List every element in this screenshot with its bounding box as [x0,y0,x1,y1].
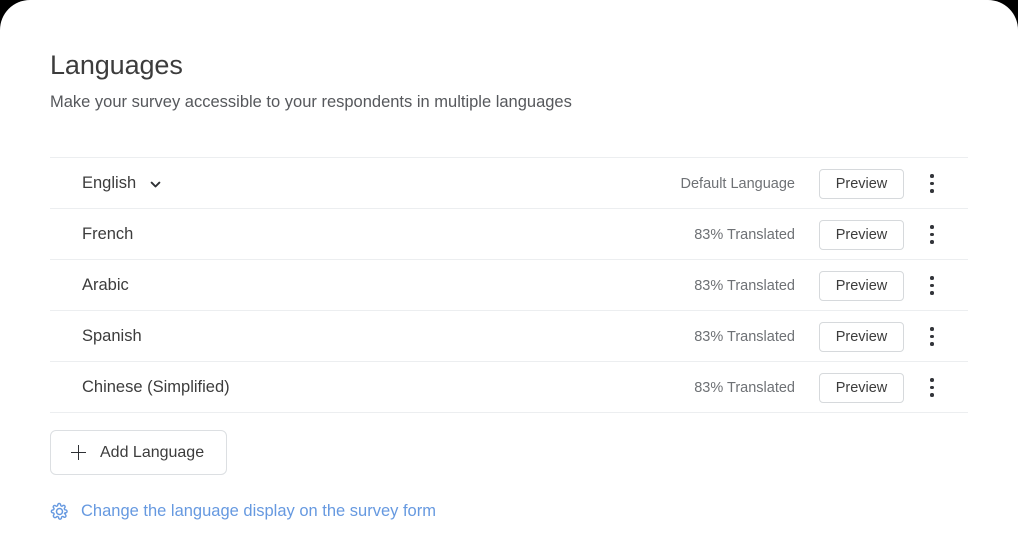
table-row[interactable]: Arabic 83% Translated Preview [50,260,968,311]
status-badge: 83% Translated [694,227,795,243]
language-entry-french: French [82,224,133,244]
language-list: English Default Language Preview French … [50,157,968,413]
table-row[interactable]: English Default Language Preview [50,158,968,209]
change-language-display-link[interactable]: Change the language display on the surve… [50,500,436,522]
page-title: Languages [50,48,970,82]
kebab-menu-icon[interactable] [918,322,946,352]
chevron-down-icon[interactable] [149,178,162,191]
footer-link-label: Change the language display on the surve… [81,500,436,522]
table-row[interactable]: Chinese (Simplified) 83% Translated Prev… [50,362,968,413]
add-language-label: Add Language [100,443,204,463]
kebab-menu-icon[interactable] [918,169,946,199]
row-actions: 83% Translated Preview [694,209,968,260]
row-actions: 83% Translated Preview [694,362,968,413]
add-language-button[interactable]: Add Language [50,430,227,475]
preview-button[interactable]: Preview [819,322,904,352]
table-row[interactable]: Spanish 83% Translated Preview [50,311,968,362]
language-entry-arabic: Arabic [82,275,129,295]
preview-button[interactable]: Preview [819,271,904,301]
language-name: English [82,173,136,193]
kebab-menu-icon[interactable] [918,373,946,403]
language-selector-english[interactable]: English [82,173,162,193]
kebab-menu-icon[interactable] [918,271,946,301]
language-name: Arabic [82,275,129,295]
language-name: Chinese (Simplified) [82,377,230,397]
page-header: Languages Make your survey accessible to… [50,48,970,113]
preview-button[interactable]: Preview [819,169,904,199]
language-name: Spanish [82,326,142,346]
language-entry-chinese-simplified: Chinese (Simplified) [82,377,230,397]
row-actions: 83% Translated Preview [694,311,968,362]
preview-button[interactable]: Preview [819,220,904,250]
preview-button[interactable]: Preview [819,373,904,403]
row-actions: Default Language Preview [681,158,969,209]
kebab-menu-icon[interactable] [918,220,946,250]
page-subtitle: Make your survey accessible to your resp… [50,82,970,113]
status-badge: 83% Translated [694,278,795,294]
language-entry-spanish: Spanish [82,326,142,346]
plus-icon [71,445,86,460]
status-badge: 83% Translated [694,329,795,345]
gear-icon [50,502,69,521]
languages-panel: Languages Make your survey accessible to… [0,0,1018,554]
language-name: French [82,224,133,244]
status-badge: Default Language [681,176,796,192]
row-actions: 83% Translated Preview [694,260,968,311]
status-badge: 83% Translated [694,380,795,396]
table-row[interactable]: French 83% Translated Preview [50,209,968,260]
